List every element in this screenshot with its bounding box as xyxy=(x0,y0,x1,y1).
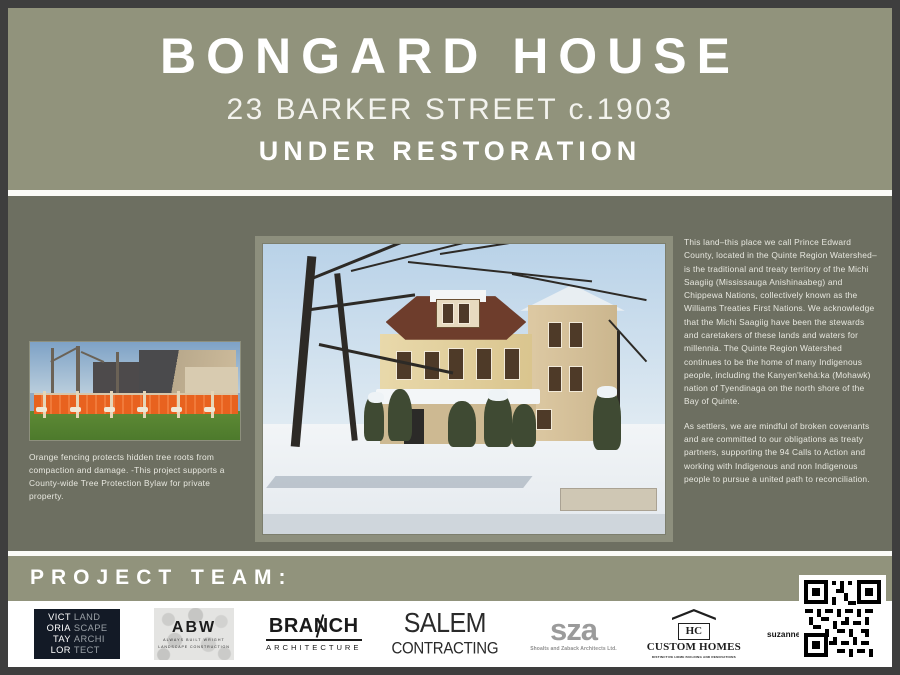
project-team-band: PROJECT TEAM: xyxy=(8,556,892,601)
fencing-photo xyxy=(29,341,241,441)
branch-rule xyxy=(266,639,362,641)
abw-wordmark: ABW xyxy=(172,620,216,636)
address-subtitle: 23 BARKER STREET c.1903 xyxy=(8,83,892,127)
body-area: Orange fencing protects hidden tree root… xyxy=(8,196,892,551)
hc-initials-box: HC xyxy=(678,623,710,640)
project-team-title: PROJECT TEAM: xyxy=(8,556,892,590)
logo-abw-landscape-construction[interactable]: ABW ALWAYS BUILT WRIGHT LANDSCAPE CONSTR… xyxy=(154,608,234,660)
house-roof-icon xyxy=(672,609,716,624)
sza-wordmark: sza xyxy=(550,616,597,644)
hc-tagline: DISTINCTIVE HOME BUILDING AND RENOVATION… xyxy=(652,655,736,659)
sza-tagline: Shoalts and Zaback Architects Ltd. xyxy=(530,646,617,652)
vt-line-a3: TAY xyxy=(47,634,71,645)
logo-strip: VICT LAND ORIA SCAPE TAY ARCHI LOR TECT … xyxy=(8,601,892,667)
vt-line-a1: VICT xyxy=(47,612,71,623)
branch-tagline: ARCHITECTURE xyxy=(266,643,362,652)
page-title: BONGARD HOUSE xyxy=(8,8,892,83)
salem-wordmark: SALEM xyxy=(404,610,486,638)
logo-hc-custom-homes[interactable]: HC CUSTOM HOMES DISTINCTIVE HOME BUILDIN… xyxy=(647,609,741,659)
hc-wordmark: CUSTOM HOMES xyxy=(647,641,741,653)
acknowledgement-paragraph-2: As settlers, we are mindful of broken co… xyxy=(684,420,880,486)
vt-line-b3: ARCHI xyxy=(74,634,108,645)
status-badge: UNDER RESTORATION xyxy=(8,127,892,167)
vt-line-a2: ORIA xyxy=(47,623,71,634)
hc-initials: HC xyxy=(686,626,703,637)
house-photo xyxy=(262,243,666,535)
branch-wordmark: BRANCH xyxy=(269,616,359,636)
logo-salem-contracting[interactable]: SALEM CONTRACTING xyxy=(392,611,499,657)
abw-tagline-1: ALWAYS BUILT WRIGHT xyxy=(163,638,225,642)
vt-line-a4: LOR xyxy=(47,645,71,656)
logo-branch-architecture[interactable]: BRANCH ARCHITECTURE xyxy=(266,616,362,652)
land-acknowledgement: This land–this place we call Prince Edwa… xyxy=(684,236,880,497)
fencing-photo-caption: Orange fencing protects hidden tree root… xyxy=(29,451,241,503)
house-photo-frame xyxy=(255,236,673,542)
logo-victoria-taylor-landscape-architect[interactable]: VICT LAND ORIA SCAPE TAY ARCHI LOR TECT xyxy=(34,609,120,659)
header-band: BONGARD HOUSE 23 BARKER STREET c.1903 UN… xyxy=(8,8,892,190)
vt-line-b1: LAND xyxy=(74,612,108,623)
abw-tagline-2: LANDSCAPE CONSTRUCTION xyxy=(158,645,230,649)
poster-board: BONGARD HOUSE 23 BARKER STREET c.1903 UN… xyxy=(8,8,892,667)
acknowledgement-paragraph-1: This land–this place we call Prince Edwa… xyxy=(684,236,880,409)
vt-line-b4: TECT xyxy=(74,645,108,656)
vt-line-b2: SCAPE xyxy=(74,623,108,634)
qr-code[interactable] xyxy=(799,575,886,662)
logo-sza-architects[interactable]: sza Shoalts and Zaback Architects Ltd. xyxy=(530,616,617,653)
left-column: Orange fencing protects hidden tree root… xyxy=(29,341,241,511)
branch-slash-icon xyxy=(316,614,325,638)
salem-tagline: CONTRACTING xyxy=(392,639,499,658)
